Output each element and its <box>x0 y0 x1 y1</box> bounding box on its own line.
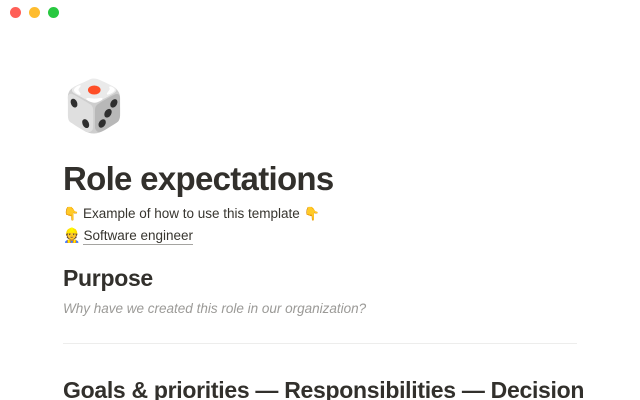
close-window-icon[interactable] <box>10 7 21 18</box>
section-heading-bottom[interactable]: Goals & priorities — Responsibilities — … <box>63 376 584 400</box>
page-title[interactable]: Role expectations <box>63 159 334 199</box>
role-link-line[interactable]: 👷Software engineer <box>63 224 193 247</box>
construction-worker-icon: 👷 <box>63 227 80 243</box>
app-window: 🎲 Role expectations 👇 Example of how to … <box>0 0 640 400</box>
pointing-down-icon-right: 👇 <box>304 206 320 221</box>
window-titlebar <box>0 0 640 28</box>
subtitle-text: Example of how to use this template <box>83 206 300 221</box>
document-canvas[interactable]: 🎲 Role expectations 👇 Example of how to … <box>0 28 640 400</box>
section-heading-purpose[interactable]: Purpose <box>63 264 153 292</box>
window-controls <box>10 7 59 18</box>
minimize-window-icon[interactable] <box>29 7 40 18</box>
purpose-placeholder-text[interactable]: Why have we created this role in our org… <box>63 299 366 319</box>
maximize-window-icon[interactable] <box>48 7 59 18</box>
pointing-down-icon-left: 👇 <box>63 206 79 221</box>
page-icon-die[interactable]: 🎲 <box>63 78 119 134</box>
subtitle-line[interactable]: 👇 Example of how to use this template 👇 <box>63 204 320 224</box>
section-divider <box>63 343 577 344</box>
role-link-software-engineer[interactable]: Software engineer <box>83 228 193 245</box>
